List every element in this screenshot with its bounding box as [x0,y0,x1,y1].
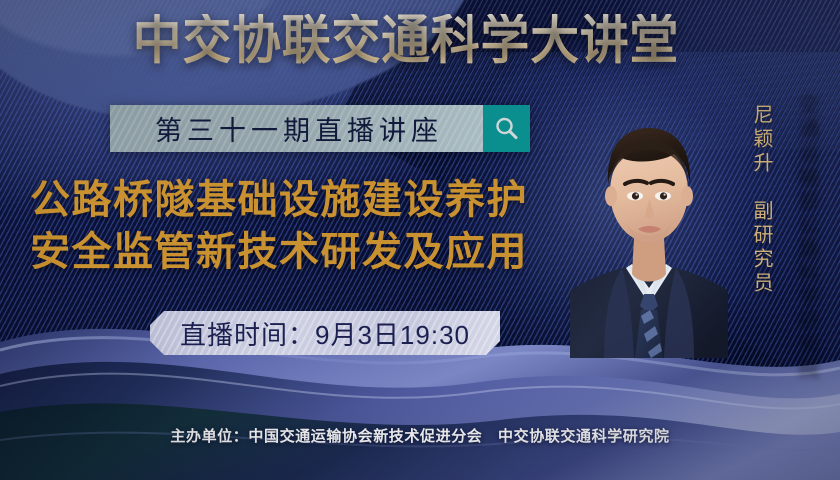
speaker-portrait [570,88,728,358]
page-title: 中交协联交通科学大讲堂 [121,14,691,68]
episode-band-body: 第三十一期直播讲座 [110,105,483,152]
speaker-name-title: 尼颖升 副研究员 [747,104,776,296]
lecture-headline-line-2: 安全监管新技术研发及应用 [30,226,590,278]
episode-label: 第三十一期直播讲座 [150,109,443,148]
organizers-footer: 主办单位：中国交通运输协会新技术促进分会 中交协联交通科学研究院 [0,425,840,446]
broadcast-time-text: 直播时间：9月3日19:30 [180,315,470,352]
speaker-affiliation: 交通运输部公路科学研究院 [792,92,822,380]
search-icon-box[interactable] [483,105,530,152]
broadcast-time-badge: 直播时间：9月3日19:30 [150,311,500,355]
search-icon [493,115,520,142]
lecture-headline: 公路桥隧基础设施建设养护 安全监管新技术研发及应用 [30,174,590,278]
episode-band: 第三十一期直播讲座 [110,105,530,152]
livestream-promo-banner: 中交协联交通科学大讲堂 第三十一期直播讲座 公路桥隧基础设施建设养护 安全监管新… [0,0,840,480]
lecture-headline-line-1: 公路桥隧基础设施建设养护 [30,174,590,226]
